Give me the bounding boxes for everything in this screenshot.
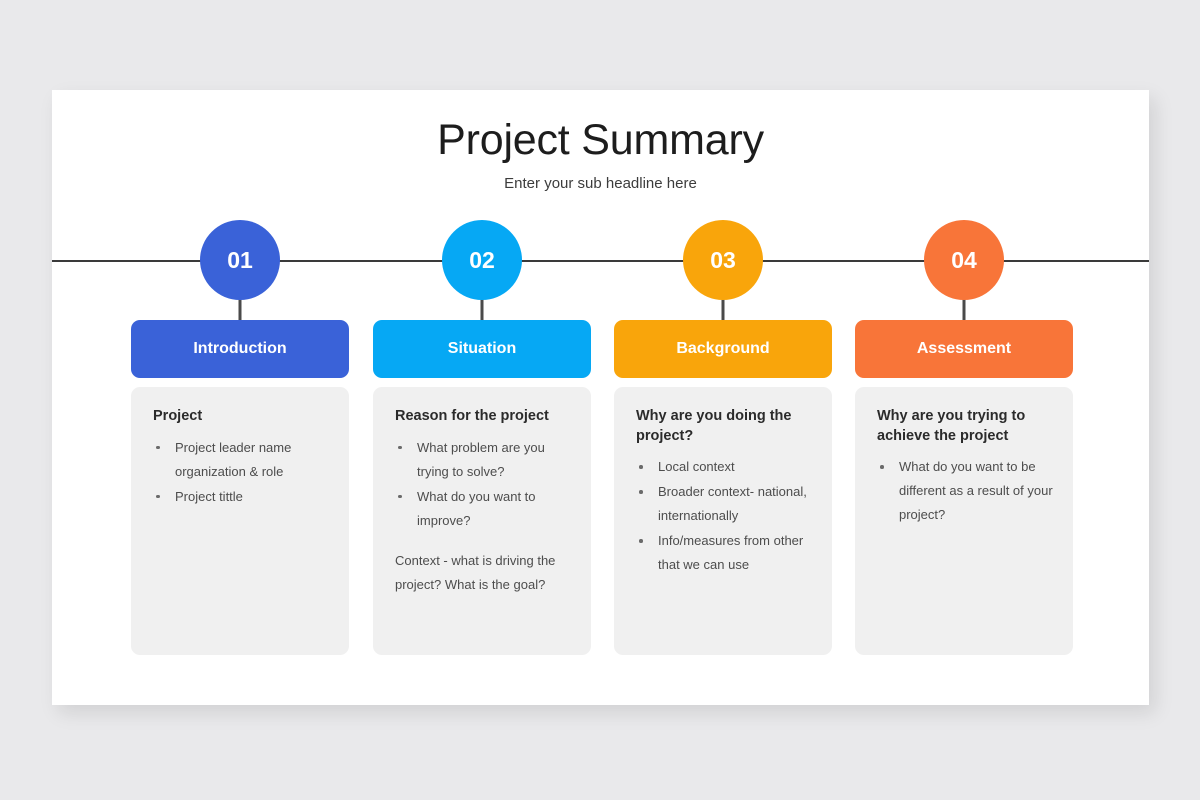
list-item: Project tittle: [153, 485, 333, 509]
card-bullet-list-04: What do you want to be different as a re…: [877, 455, 1057, 527]
step-number-circle-02[interactable]: 02: [442, 220, 522, 300]
card-heading-03: Why are you doing the project?: [636, 407, 816, 446]
step-card-01: Project Project leader name organization…: [131, 387, 349, 655]
card-bullet-list-03: Local context Broader context- national,…: [636, 455, 816, 577]
step-banner-04[interactable]: Assessment: [855, 320, 1073, 378]
step-banner-label-04: Assessment: [917, 340, 1011, 358]
slide-canvas: Project Summary Enter your sub headline …: [52, 90, 1149, 705]
timeline-step-03: 03 Background Why are you doing the proj…: [614, 90, 832, 705]
list-item: What do you want to improve?: [395, 485, 575, 533]
list-item: Local context: [636, 455, 816, 479]
card-heading-01: Project: [153, 407, 333, 427]
step-banner-label-03: Background: [676, 340, 769, 358]
list-item: What do you want to be different as a re…: [877, 455, 1057, 527]
step-banner-01[interactable]: Introduction: [131, 320, 349, 378]
card-heading-02: Reason for the project: [395, 407, 575, 427]
card-bullet-list-01: Project leader name organization & role …: [153, 436, 333, 509]
card-bullet-list-02: What problem are you trying to solve? Wh…: [395, 436, 575, 533]
step-number-label-04: 04: [951, 247, 977, 274]
step-card-04: Why are you trying to achieve the projec…: [855, 387, 1073, 655]
list-item: Info/measures from other that we can use: [636, 529, 816, 577]
list-item: What problem are you trying to solve?: [395, 436, 575, 484]
timeline-step-02: 02 Situation Reason for the project What…: [373, 90, 591, 705]
step-banner-label-02: Situation: [448, 340, 516, 358]
timeline-step-04: 04 Assessment Why are you trying to achi…: [855, 90, 1073, 705]
list-item: Broader context- national, international…: [636, 480, 816, 528]
timeline-step-01: 01 Introduction Project Project leader n…: [131, 90, 349, 705]
step-number-circle-04[interactable]: 04: [924, 220, 1004, 300]
step-banner-03[interactable]: Background: [614, 320, 832, 378]
step-card-02: Reason for the project What problem are …: [373, 387, 591, 655]
step-number-label-02: 02: [469, 247, 495, 274]
step-number-circle-01[interactable]: 01: [200, 220, 280, 300]
step-number-label-03: 03: [710, 247, 736, 274]
step-banner-02[interactable]: Situation: [373, 320, 591, 378]
step-banner-label-01: Introduction: [193, 340, 286, 358]
card-heading-04: Why are you trying to achieve the projec…: [877, 407, 1057, 446]
step-card-03: Why are you doing the project? Local con…: [614, 387, 832, 655]
list-item: Project leader name organization & role: [153, 436, 333, 484]
step-number-label-01: 01: [227, 247, 253, 274]
step-number-circle-03[interactable]: 03: [683, 220, 763, 300]
card-note-02: Context - what is driving the project? W…: [395, 549, 575, 597]
timeline-steps: 01 Introduction Project Project leader n…: [52, 90, 1149, 705]
